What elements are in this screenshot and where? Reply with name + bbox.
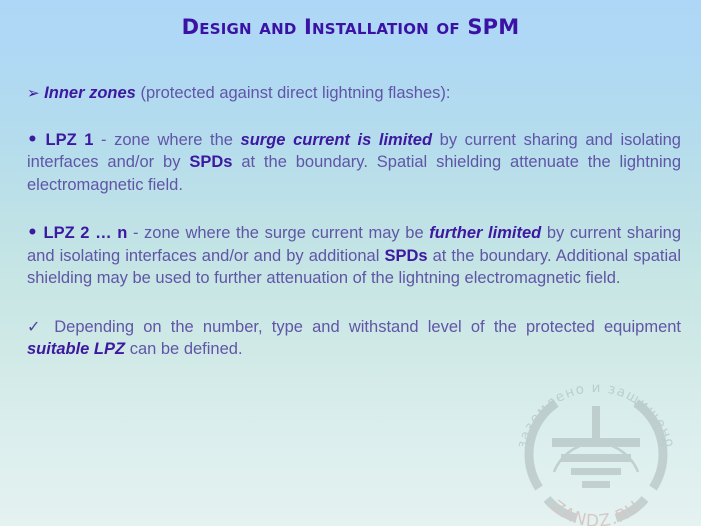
slide-body: ➢ Inner zones (protected against direct … xyxy=(27,82,681,361)
presentation-slide: заземлено и защищено ZANDZ.RU Design and… xyxy=(0,0,701,526)
paragraph-lpz-1: • LPZ 1 - zone where the surge current i… xyxy=(27,129,681,197)
text-run-regular: Depending on the number, type and withst… xyxy=(54,318,681,336)
text-run-regular: - zone where the surge current may be xyxy=(127,224,429,242)
text-run-bold-italic-surge: surge current is limited xyxy=(241,131,433,149)
ring-arc-right xyxy=(636,403,663,488)
earth-ground-symbol xyxy=(552,406,640,488)
text-run-bold-spds: SPDs xyxy=(189,153,232,171)
paragraph-suitable-lpz: ✓ Depending on the number, type and with… xyxy=(27,316,681,361)
text-run-bold-lpz2n: LPZ 2 … n xyxy=(44,224,128,242)
check-bullet-icon: ✓ xyxy=(27,317,45,336)
text-run-bold-lpz1: LPZ 1 xyxy=(45,131,93,149)
text-run-bold-spds: SPDs xyxy=(384,247,427,265)
ring-arc-bottom-right xyxy=(616,499,645,518)
text-run-regular: (protected against direct lightning flas… xyxy=(136,84,451,102)
slide-title-bar: Design and Installation of SPM xyxy=(0,16,701,39)
text-run-bold-italic-suitable: suitable LPZ xyxy=(27,340,125,358)
text-run-bold-italic: Inner zones xyxy=(44,84,136,102)
paragraph-inner-zones: ➢ Inner zones (protected against direct … xyxy=(27,82,681,105)
ring-arc-left xyxy=(529,403,556,488)
text-run-regular: - zone where the xyxy=(93,131,240,149)
watermark-brand-text: ZANDZ.RU xyxy=(547,497,644,526)
text-run-regular: can be defined. xyxy=(125,340,242,358)
watermark-arc-text: заземлено и защищено xyxy=(514,380,678,450)
dot-bullet-icon: • xyxy=(27,223,38,243)
ring-inner-circle xyxy=(554,443,638,472)
zandz-watermark-logo: заземлено и защищено ZANDZ.RU xyxy=(498,376,694,526)
dot-bullet-icon: • xyxy=(27,130,38,150)
text-run-bold-italic-further: further limited xyxy=(429,224,541,242)
ring-arc-bottom-left xyxy=(547,499,576,518)
arrow-bullet-icon: ➢ xyxy=(27,84,40,102)
paragraph-lpz-2-n: • LPZ 2 … n - zone where the surge curre… xyxy=(27,222,681,290)
page-title: Design and Installation of SPM xyxy=(182,16,520,39)
